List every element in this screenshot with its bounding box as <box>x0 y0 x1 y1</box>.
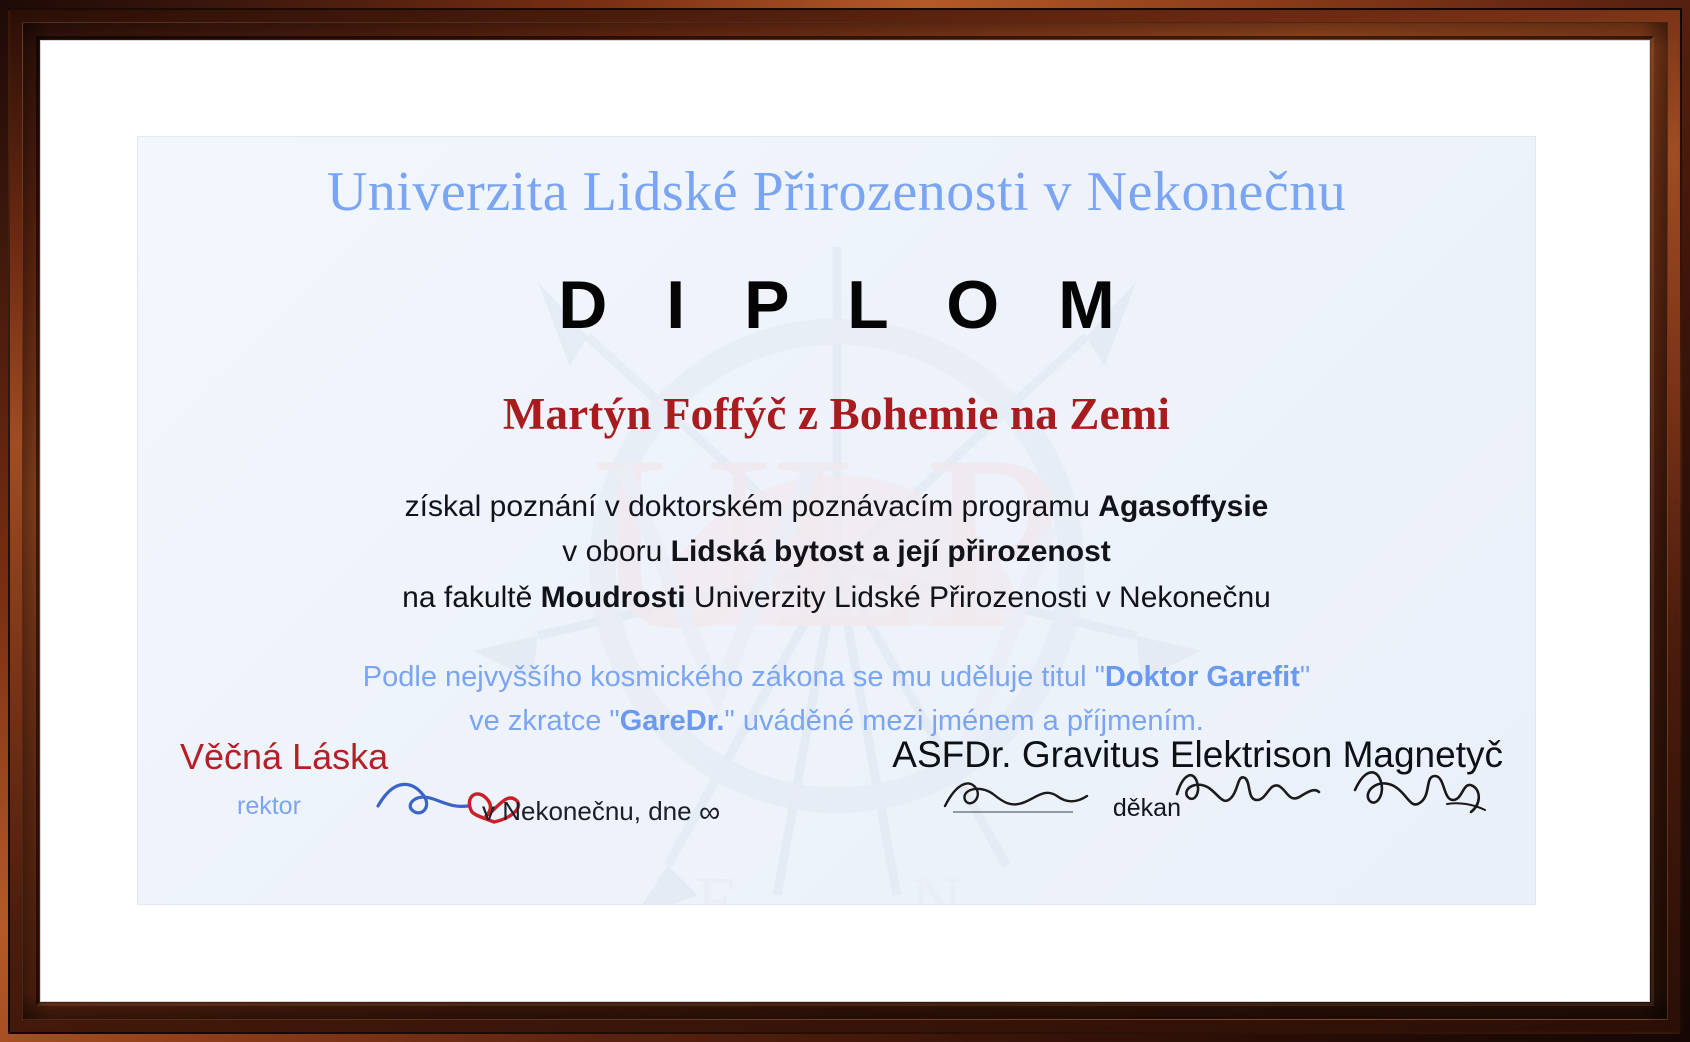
award-line-1-prefix: Podle nejvyššího kosmického zákona se mu… <box>363 661 1105 693</box>
program-name: Agasoffysie <box>1098 490 1268 523</box>
faculty-name: Moudrosti <box>541 581 686 614</box>
body-line-3: na fakultě Moudrosti Univerzity Lidské P… <box>162 575 1511 621</box>
frame-mat: ULP E N Univerzita Lidské Přirozenosti v… <box>40 40 1650 1002</box>
recipient-name: Martýn Foffýč z Bohemie na Zemi <box>162 388 1511 440</box>
picture-frame-outer: ULP E N Univerzita Lidské Přirozenosti v… <box>0 0 1690 1042</box>
date-label: v Nekonečnu, dne <box>482 796 692 826</box>
diploma-sheet: ULP E N Univerzita Lidské Přirozenosti v… <box>137 136 1536 905</box>
body-line-3-prefix: na fakultě <box>402 581 540 614</box>
body-line-1: získal poznání v doktorském poznávacím p… <box>162 484 1511 530</box>
diploma-content: Univerzita Lidské Přirozenosti v Nekoneč… <box>138 137 1535 904</box>
diploma-heading: D I P L O M <box>162 266 1511 344</box>
dekan-signature-3-icon <box>1351 760 1491 824</box>
body-line-1-prefix: získal poznání v doktorském poznávacím p… <box>405 490 1099 523</box>
award-line-1-suffix: " <box>1300 661 1310 693</box>
rektor-label: rektor <box>237 792 301 821</box>
diploma-footer: Věčná Láska rektor v Nekonečnu, dne ∞ AS… <box>162 730 1511 890</box>
field-of-study: Lidská bytost a její přirozenost <box>671 535 1111 568</box>
date-value-infinity: ∞ <box>699 796 721 829</box>
rektor-name: Věčná Láska <box>180 736 388 778</box>
diploma-body: získal poznání v doktorském poznávacím p… <box>162 484 1511 621</box>
dekan-signature-2-icon <box>1171 760 1321 822</box>
body-line-2: v oboru Lidská bytost a její přirozenost <box>162 529 1511 575</box>
awarded-title: Doktor Garefit <box>1105 661 1300 693</box>
body-line-2-prefix: v oboru <box>562 535 670 568</box>
body-line-3-suffix: Univerzity Lidské Přirozenosti v Nekoneč… <box>686 581 1271 614</box>
dekan-signature-1-icon <box>941 766 1091 824</box>
award-line-1: Podle nejvyššího kosmického zákona se mu… <box>162 655 1511 699</box>
issue-date: v Nekonečnu, dne ∞ <box>482 796 721 830</box>
university-title: Univerzita Lidské Přirozenosti v Nekoneč… <box>162 163 1511 222</box>
